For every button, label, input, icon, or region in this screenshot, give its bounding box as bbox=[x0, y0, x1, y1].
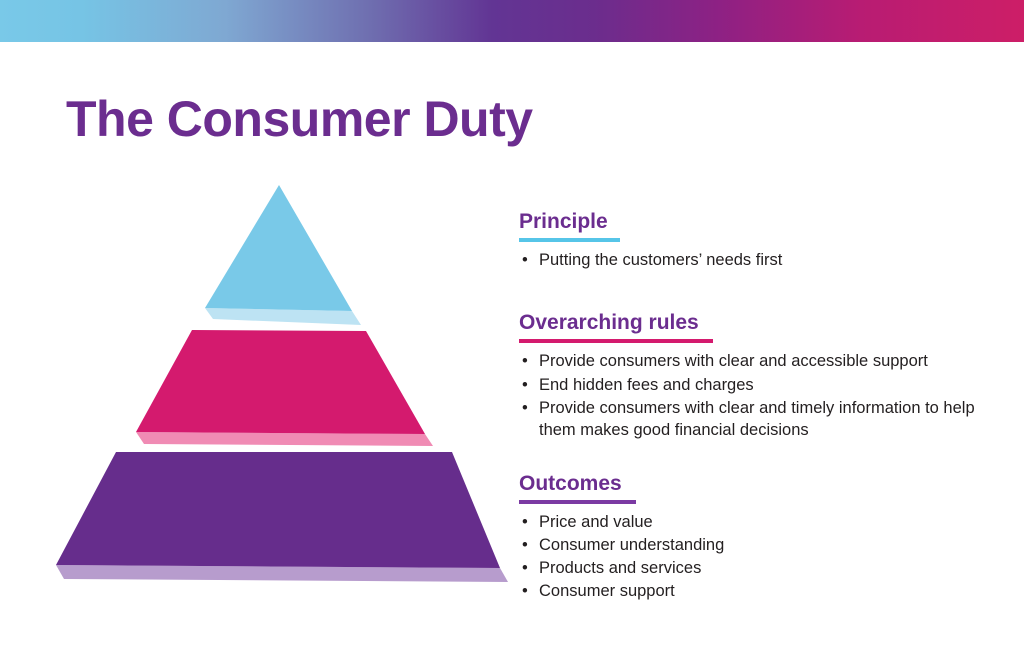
list-item-label: Consumer understanding bbox=[539, 536, 724, 554]
list-item-label: Provide consumers with clear and timely … bbox=[539, 399, 975, 439]
bullet-icon: • bbox=[522, 511, 528, 533]
pyramid-tier-principle-face bbox=[205, 185, 352, 311]
list-item: • Provide consumers with clear and acces… bbox=[519, 350, 999, 372]
list-item-label: Products and services bbox=[539, 559, 701, 577]
bullet-icon: • bbox=[522, 374, 528, 396]
section-principle-heading: Principle bbox=[519, 210, 608, 237]
list-item: • Consumer support bbox=[519, 580, 999, 602]
section-principle-bullets: • Putting the customers’ needs first bbox=[519, 249, 999, 271]
list-item: • Putting the customers’ needs first bbox=[519, 249, 999, 271]
bullet-icon: • bbox=[522, 397, 528, 419]
list-item: • Consumer understanding bbox=[519, 534, 999, 556]
section-overarching-rules-heading: Overarching rules bbox=[519, 311, 699, 338]
section-outcomes-bullets: • Price and value • Consumer understandi… bbox=[519, 511, 999, 602]
list-item: • End hidden fees and charges bbox=[519, 374, 999, 396]
pyramid-tier-rules-face bbox=[136, 330, 425, 434]
content-column: Principle • Putting the customers’ needs… bbox=[519, 210, 999, 603]
list-item-label: End hidden fees and charges bbox=[539, 376, 754, 394]
pyramid-tier-overarching-rules[interactable] bbox=[136, 330, 433, 446]
list-item: • Products and services bbox=[519, 557, 999, 579]
bullet-icon: • bbox=[522, 249, 528, 271]
section-overarching-rules-bullets: • Provide consumers with clear and acces… bbox=[519, 350, 999, 440]
slide-canvas: The Consumer Duty Principle • Putting t bbox=[0, 0, 1024, 665]
list-item-label: Putting the customers’ needs first bbox=[539, 251, 782, 269]
list-item: • Provide consumers with clear and timel… bbox=[519, 397, 987, 441]
pyramid-tier-outcomes[interactable] bbox=[56, 452, 508, 582]
section-principle: Principle • Putting the customers’ needs… bbox=[519, 210, 999, 271]
list-item-label: Consumer support bbox=[539, 582, 675, 600]
pyramid-tier-principle[interactable] bbox=[205, 185, 361, 325]
bullet-icon: • bbox=[522, 534, 528, 556]
section-overarching-rules: Overarching rules • Provide consumers wi… bbox=[519, 311, 999, 441]
pyramid-tier-rules-shadow bbox=[136, 432, 433, 446]
three-tier-pyramid-diagram bbox=[0, 0, 560, 665]
bullet-icon: • bbox=[522, 557, 528, 579]
list-item-label: Price and value bbox=[539, 513, 653, 531]
section-principle-underline bbox=[519, 238, 620, 242]
list-item: • Price and value bbox=[519, 511, 999, 533]
list-item-label: Provide consumers with clear and accessi… bbox=[539, 352, 928, 370]
bullet-icon: • bbox=[522, 350, 528, 372]
bullet-icon: • bbox=[522, 580, 528, 602]
pyramid-tier-outcomes-face bbox=[56, 452, 500, 568]
section-overarching-rules-underline bbox=[519, 339, 713, 343]
section-outcomes-heading: Outcomes bbox=[519, 472, 622, 499]
section-outcomes-underline bbox=[519, 500, 636, 504]
section-outcomes: Outcomes • Price and value • Consumer un… bbox=[519, 472, 999, 603]
